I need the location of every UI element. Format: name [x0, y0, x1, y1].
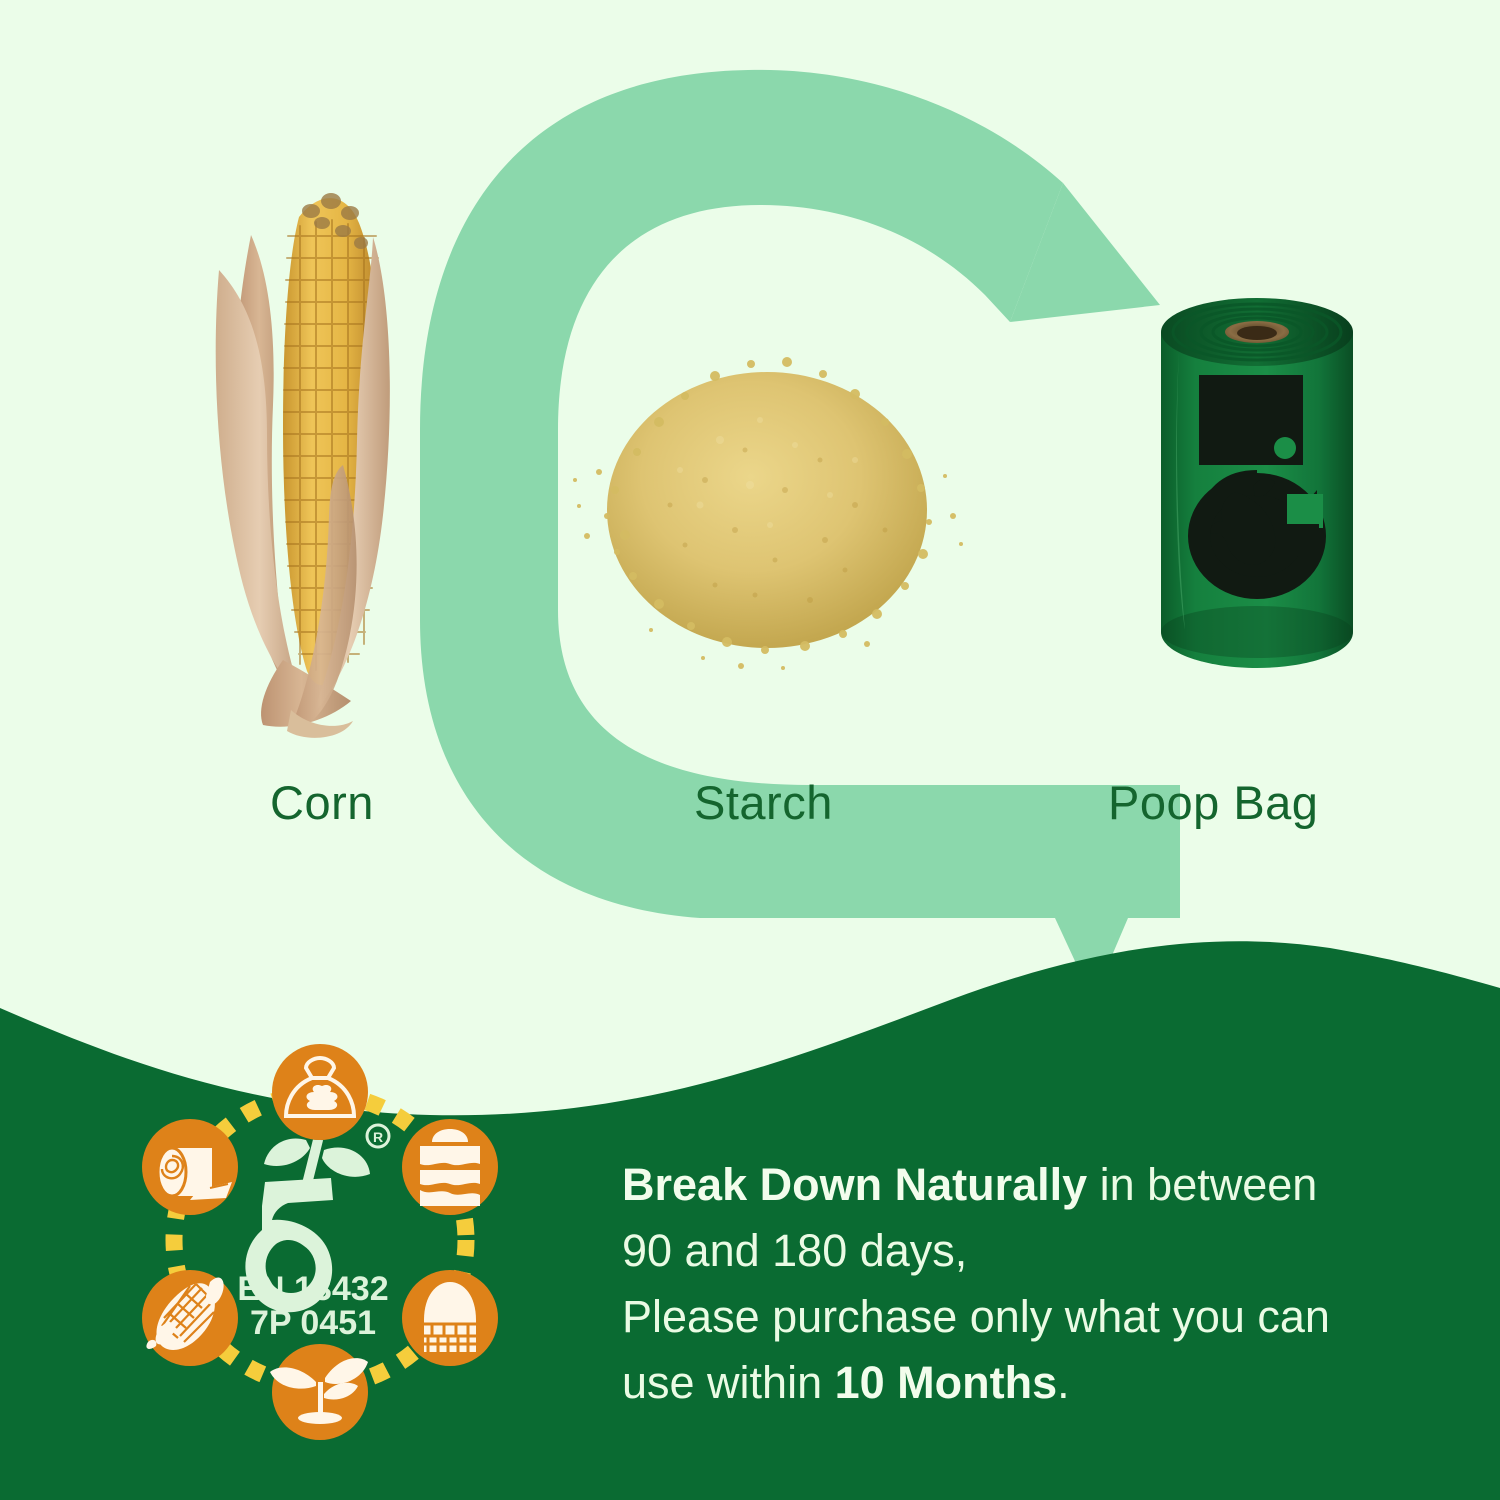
compost-soil-icon: [402, 1270, 498, 1366]
message-line4-pre: use within: [622, 1357, 835, 1408]
message-line3: Please purchase only what you can: [622, 1291, 1330, 1342]
sprout-icon: [270, 1344, 368, 1440]
film-roll-icon: [142, 1119, 238, 1215]
bottom-message: Break Down Naturally in between 90 and 1…: [622, 1152, 1422, 1416]
infographic-canvas: Corn Starch Poop Bag R EN 13432 7P: [0, 0, 1500, 1500]
seedling-compostable-certification: R EN 13432 7P 0451: [110, 1030, 530, 1450]
cert-standard-text: EN 13432: [237, 1270, 388, 1308]
message-line1-bold: Break Down Naturally: [622, 1159, 1087, 1210]
poop-bag-icon: [272, 1044, 368, 1140]
svg-text:R: R: [373, 1129, 383, 1145]
soil-layers-icon: [402, 1119, 498, 1215]
corn-cob-icon: [142, 1270, 238, 1366]
cert-license-text: 7P 0451: [250, 1304, 376, 1342]
message-line2: 90 and 180 days,: [622, 1225, 967, 1276]
message-line1-rest: in between: [1087, 1159, 1317, 1210]
message-line4-bold: 10 Months: [835, 1357, 1058, 1408]
registered-mark: R: [367, 1125, 389, 1147]
message-line4-post: .: [1057, 1357, 1070, 1408]
